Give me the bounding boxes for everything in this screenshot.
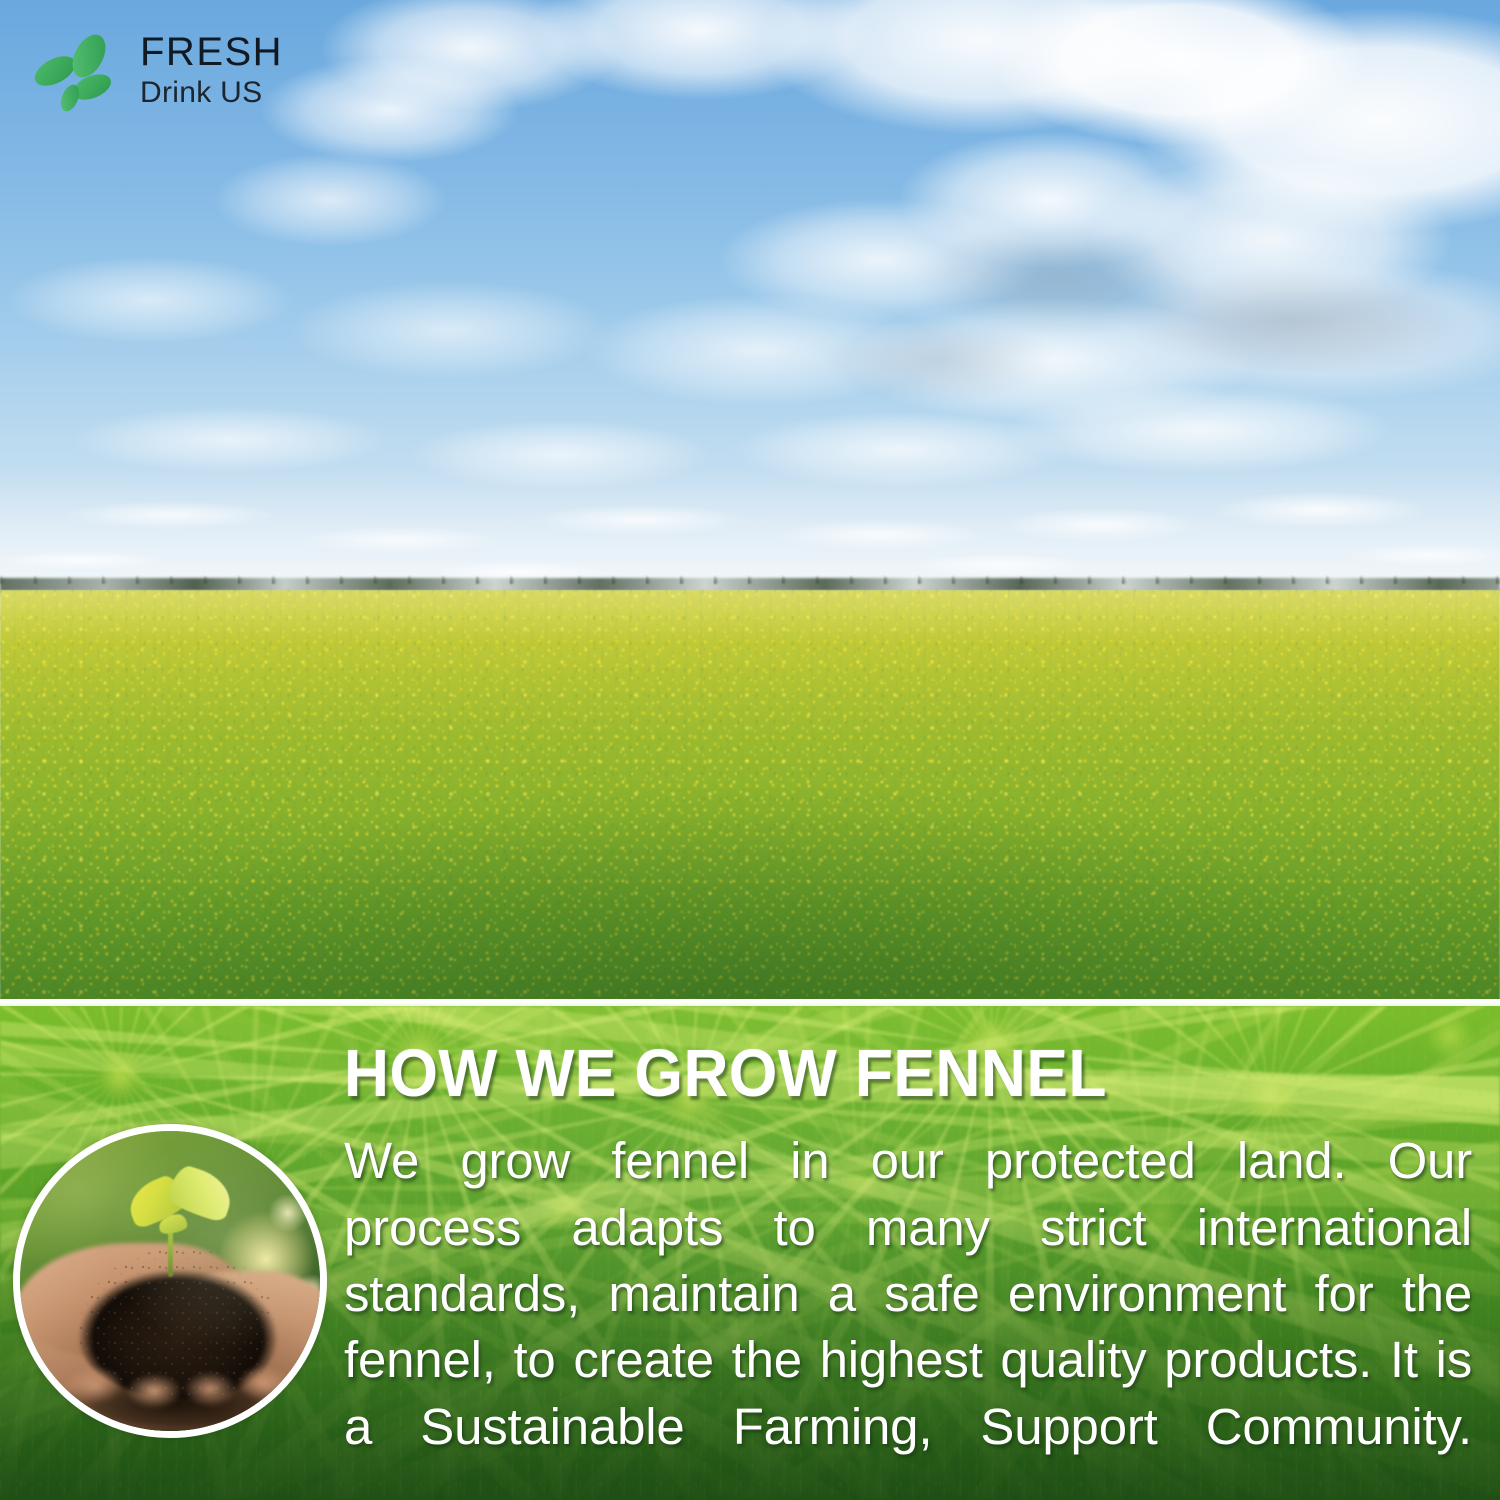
- product-infographic-page: FRESH Drink US: [0, 0, 1500, 1500]
- brand-wordmark: FRESH Drink US: [140, 32, 320, 111]
- section-heading: HOW WE GROW FENNEL: [344, 1042, 1393, 1106]
- how-we-grow-section: HOW WE GROW FENNEL We grow fennel in our…: [0, 1006, 1500, 1500]
- photo-light-overlay: [20, 1131, 320, 1431]
- four-leaf-sprout-icon: [30, 30, 130, 116]
- brand-name-line1: FRESH: [140, 32, 320, 72]
- banner-text-column: HOW WE GROW FENNEL We grow fennel in our…: [344, 1042, 1472, 1500]
- brand-logo: FRESH Drink US: [30, 26, 310, 118]
- hero-field-photo: FRESH Drink US: [0, 0, 1500, 1001]
- section-body-text: We grow fennel in our protected land. Ou…: [344, 1128, 1472, 1500]
- brand-name-line2: Drink US: [140, 76, 320, 111]
- hands-holding-soil-seedling-photo: [13, 1124, 327, 1438]
- field-depth-shading: [0, 590, 1500, 1001]
- section-separator: [0, 999, 1500, 1006]
